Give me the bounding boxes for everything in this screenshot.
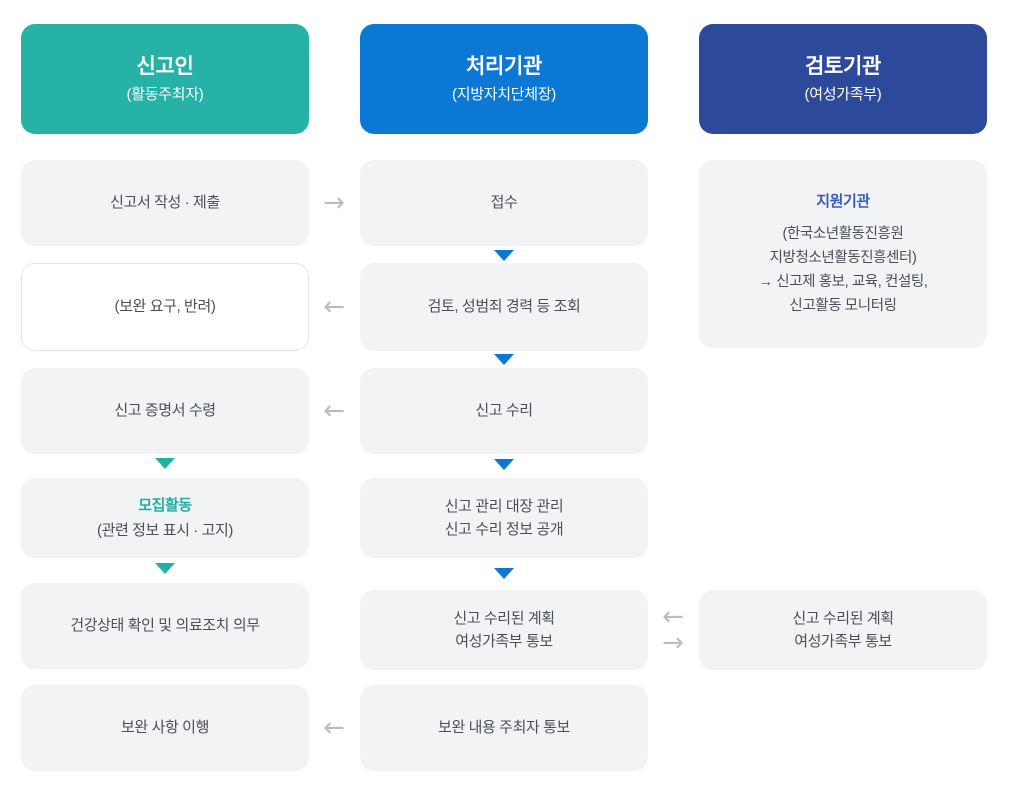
column-header-review: 검토기관 (여성가족부) — [699, 24, 987, 134]
arrow-down-icon-left-4-to-5 — [155, 563, 175, 574]
step-label: 신고 수리 — [475, 399, 532, 422]
step-label: 건강상태 확인 및 의료조치 의무 — [70, 614, 259, 637]
step-box-left-6: 보완 사항 이행 — [21, 685, 309, 771]
step-box-left-1: 신고서 작성 · 제출 — [21, 160, 309, 246]
step-label-line1: 신고 관리 대장 관리 — [445, 495, 564, 518]
step-box-middle-4: 신고 관리 대장 관리 신고 수리 정보 공개 — [360, 478, 648, 558]
column-title-review: 검토기관 — [805, 54, 881, 80]
column-header-reporter: 신고인 (활동주최자) — [21, 24, 309, 134]
step-label: 검토, 성범죄 경력 등 조회 — [428, 295, 581, 318]
step-label: 보완 사항 이행 — [121, 716, 209, 739]
step-box-middle-5: 신고 수리된 계획 여성가족부 통보 — [360, 590, 648, 670]
step-box-middle-3: 신고 수리 — [360, 368, 648, 454]
column-subtitle-review: (여성가족부) — [805, 86, 882, 105]
step-box-middle-6: 보완 내용 주최자 통보 — [360, 685, 648, 771]
step-box-left-5: 건강상태 확인 및 의료조치 의무 — [21, 583, 309, 669]
step-label-line2: 지방청소년활동진흥센터) — [770, 247, 917, 271]
step-box-left-3: 신고 증명서 수령 — [21, 368, 309, 454]
step-box-right-1: 지원기관 (한국소년활동진흥원 지방청소년활동진흥센터) → 신고제 홍보, 교… — [699, 160, 987, 348]
step-label-line1: 신고 수리된 계획 — [792, 607, 893, 630]
arrow-down-icon-middle-3-to-4 — [494, 459, 514, 470]
step-label: 신고 증명서 수령 — [114, 399, 215, 422]
step-label-line2: 신고 수리 정보 공개 — [445, 518, 564, 541]
step-box-left-4: 모집활동 (관련 정보 표시 · 고지) — [21, 478, 309, 558]
step-heading: 모집활동 — [138, 494, 192, 517]
arrow-right-icon-left-to-middle-1: → — [309, 190, 359, 216]
step-label-line1: (한국소년활동진흥원 — [783, 223, 904, 247]
arrow-down-icon-left-3-to-4 — [155, 458, 175, 469]
column-title-reporter: 신고인 — [136, 54, 193, 80]
column-subtitle-reporter: (활동주최자) — [127, 86, 204, 105]
step-label: 접수 — [491, 191, 518, 214]
step-label-line4: 신고활동 모니터링 — [789, 295, 896, 319]
arrow-down-icon-middle-1-to-2 — [494, 250, 514, 261]
step-label: (보완 요구, 반려) — [115, 295, 216, 318]
column-title-processing: 처리기관 — [466, 54, 542, 80]
step-box-middle-1: 접수 — [360, 160, 648, 246]
step-label-line2: 여성가족부 통보 — [794, 630, 892, 653]
arrow-right-icon-middle-to-right: → — [648, 630, 698, 656]
column-header-processing: 처리기관 (지방자치단체장) — [360, 24, 648, 134]
step-label-line2: 여성가족부 통보 — [455, 630, 553, 653]
step-label: 신고서 작성 · 제출 — [110, 191, 220, 214]
step-label: (관련 정보 표시 · 고지) — [97, 519, 233, 542]
step-label-line3: → 신고제 홍보, 교육, 컨설팅, — [759, 271, 928, 295]
arrow-down-icon-middle-4-to-5 — [494, 568, 514, 579]
arrow-down-icon-middle-2-to-3 — [494, 354, 514, 365]
arrow-left-icon-middle-to-left-6: ← — [309, 715, 359, 741]
step-box-middle-2: 검토, 성범죄 경력 등 조회 — [360, 263, 648, 351]
step-label-line1: 신고 수리된 계획 — [453, 607, 554, 630]
step-box-right-2: 신고 수리된 계획 여성가족부 통보 — [699, 590, 987, 670]
step-heading: 지원기관 — [816, 190, 870, 213]
arrow-left-icon-right-to-middle: ← — [648, 604, 698, 630]
step-box-left-2: (보완 요구, 반려) — [21, 263, 309, 351]
flowchart-diagram: 신고인 (활동주최자) 처리기관 (지방자치단체장) 검토기관 (여성가족부) … — [0, 0, 1017, 792]
column-subtitle-processing: (지방자치단체장) — [452, 86, 556, 105]
step-label: 보완 내용 주최자 통보 — [438, 716, 570, 739]
arrow-left-icon-middle-to-left-2: ← — [309, 294, 359, 320]
arrow-left-icon-middle-to-left-3: ← — [309, 398, 359, 424]
